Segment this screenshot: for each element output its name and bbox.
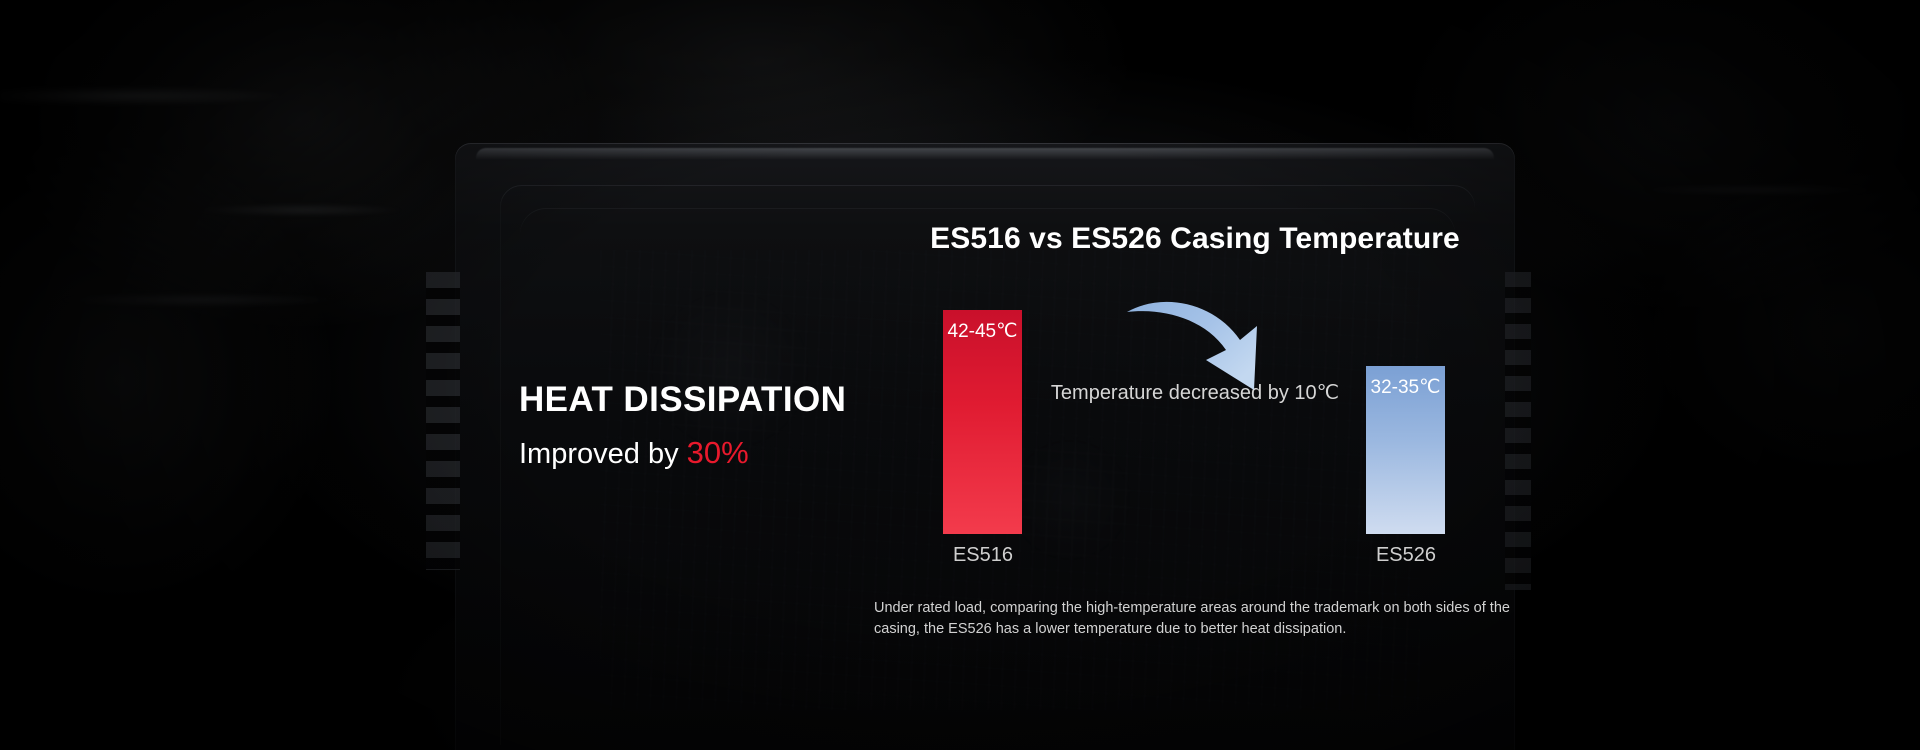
slide-root: ES516 vs ES526 Casing Temperature HEAT D… [0, 0, 1920, 750]
bar-es526: 32-35℃ [1366, 366, 1445, 534]
bar-caption-es516: ES516 [903, 544, 1063, 567]
bar-value-es516: 42-45℃ [943, 320, 1022, 343]
footnote-text: Under rated load, comparing the high-tem… [874, 598, 1514, 639]
headline-block: HEAT DISSIPATION Improved by 30% [519, 381, 939, 470]
headline-subtitle-prefix: Improved by [519, 438, 687, 470]
bar-es516: 42-45℃ [943, 310, 1022, 534]
content-overlay: ES516 vs ES526 Casing Temperature HEAT D… [0, 0, 1920, 750]
bar-value-es526: 32-35℃ [1366, 376, 1445, 399]
headline-subtitle-accent: 30% [687, 435, 749, 470]
page-title: HEAT DISSIPATION [519, 381, 939, 420]
bar-caption-es526: ES526 [1326, 544, 1486, 567]
chart-title: ES516 vs ES526 Casing Temperature [760, 222, 1630, 256]
curved-arrow-icon [1110, 288, 1280, 398]
headline-subtitle: Improved by 30% [519, 436, 939, 471]
